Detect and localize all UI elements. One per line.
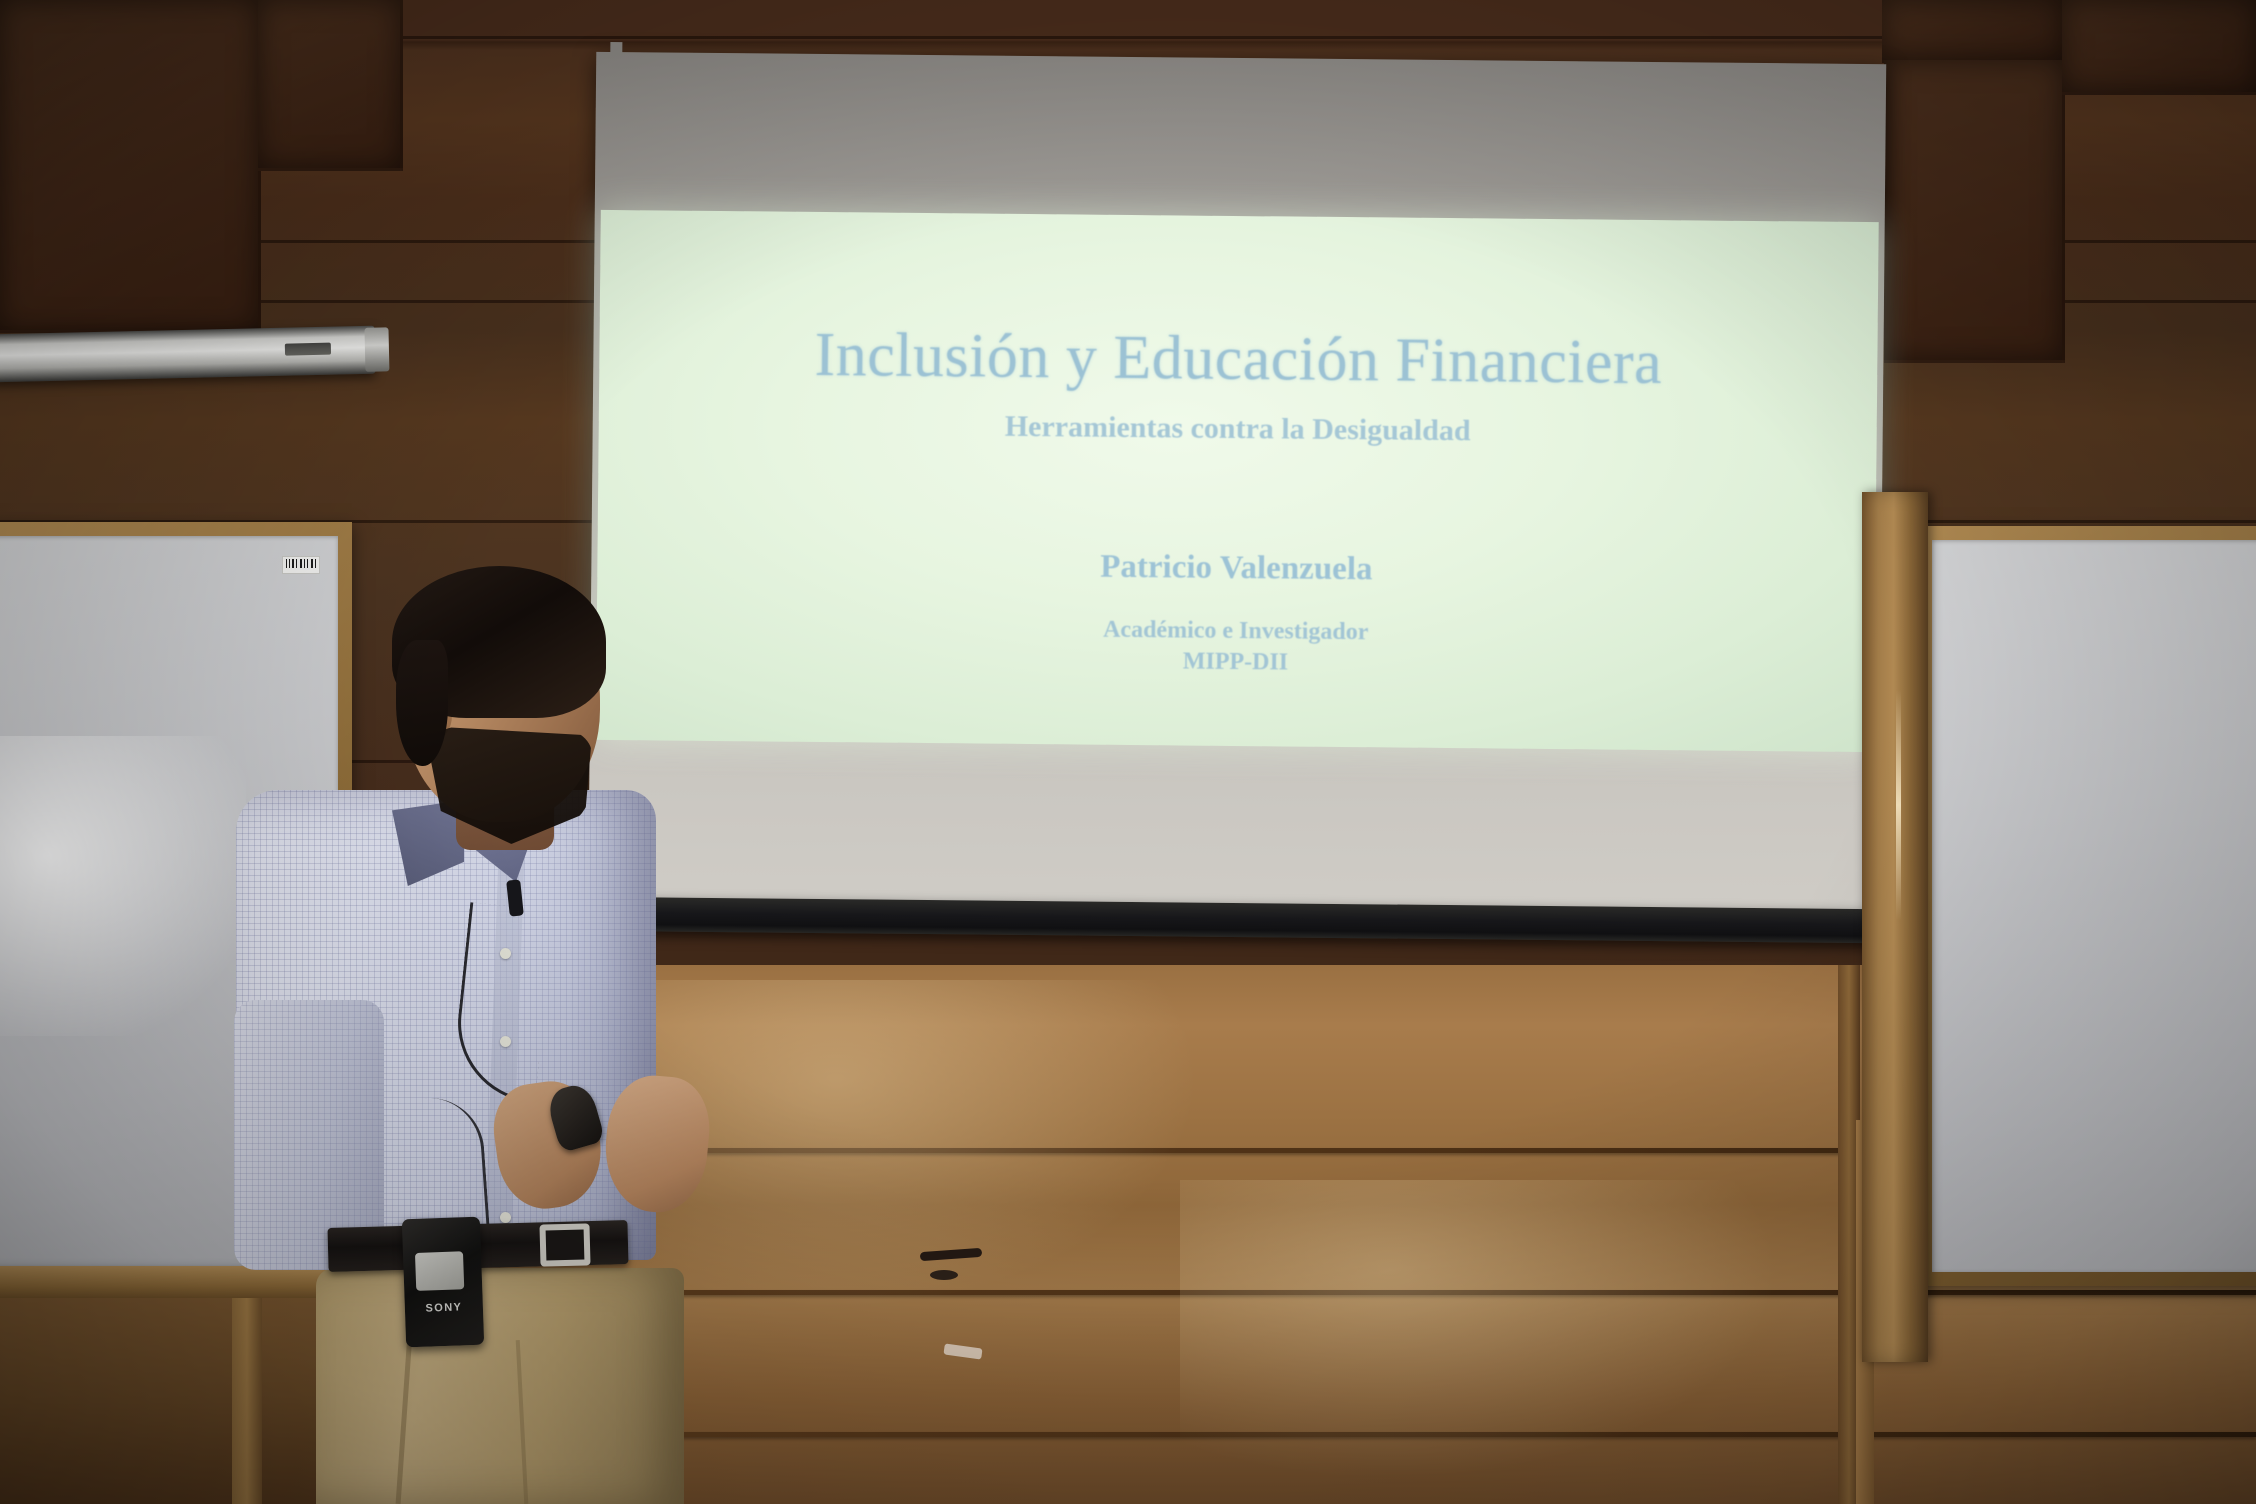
wall-panel (258, 0, 403, 171)
slide-author: Patricio Valenzuela (597, 544, 1875, 593)
eye (930, 1270, 958, 1280)
screen-notch (610, 42, 622, 54)
wall-below-whiteboard (0, 1298, 350, 1504)
whiteboard-glare (0, 736, 246, 1036)
roller-brand-badge (285, 343, 331, 356)
presenter-trousers (316, 1268, 684, 1504)
slide-affiliation: Académico e Investigador MIPP-DII (596, 610, 1875, 684)
presenter-hair-side (396, 640, 448, 766)
wall-panel (1884, 60, 2065, 363)
rolled-screen-casing[interactable] (0, 326, 375, 383)
whiteboard-right-surface[interactable] (1932, 540, 2256, 1272)
whiteboard-right[interactable] (1918, 526, 2256, 1286)
wood-post (1862, 492, 1928, 1362)
shirt-button (500, 1212, 511, 1223)
slide-subtitle: Herramientas contra la Desigualdad (599, 406, 1877, 452)
projected-slide: Inclusión y Educación Financiera Herrami… (596, 210, 1879, 752)
post-highlight (1896, 690, 1901, 920)
projection-screen[interactable]: Inclusión y Educación Financiera Herrami… (588, 52, 1886, 954)
wall-post-below-whiteboard (232, 1298, 262, 1504)
wall-panel (2062, 0, 2256, 95)
roller-endcap (364, 327, 389, 372)
transmitter-brand-label: SONY (405, 1301, 483, 1316)
projection-screen-fabric: Inclusión y Educación Financiera Herrami… (588, 52, 1886, 917)
wireless-microphone-transmitter[interactable]: SONY (402, 1217, 484, 1348)
wall-panel (0, 0, 261, 333)
belt-buckle (539, 1223, 590, 1266)
presentation-photo-scene: Inclusión y Educación Financiera Herrami… (0, 0, 2256, 1504)
slide-title: Inclusión y Educación Financiera (599, 318, 1878, 401)
transmitter-display (415, 1251, 464, 1291)
barcode-sticker (282, 556, 320, 574)
wall-panel (1882, 0, 2065, 63)
whiteboard-ledge (0, 1266, 350, 1300)
